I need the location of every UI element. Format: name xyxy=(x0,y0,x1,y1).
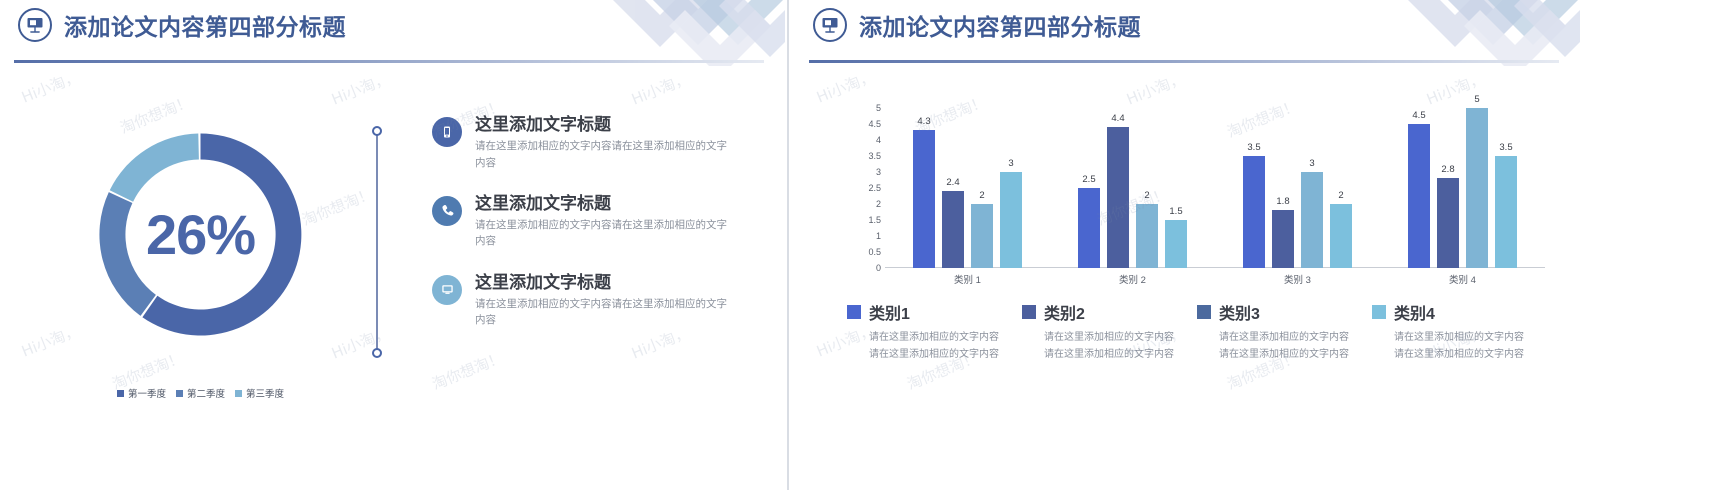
mobile-phone-icon xyxy=(432,117,462,147)
category-legend: 类别1 请在这里添加相应的文字内容请在这里添加相应的文字内容 类别2 请在这里添… xyxy=(847,300,1547,363)
x-axis-labels: 类别 1类别 2类别 3类别 4 xyxy=(885,272,1545,286)
y-axis-tick: 0.5 xyxy=(868,247,881,257)
legend-item[interactable]: 类别2 请在这里添加相应的文字内容请在这里添加相应的文字内容 xyxy=(1022,300,1197,363)
donut-legend-label: 第二季度 xyxy=(187,386,225,400)
bar[interactable]: 4.3 xyxy=(913,130,935,268)
list-item[interactable]: 这里添加文字标题 请在这里添加相应的文字内容请在这里添加相应的文字内容 xyxy=(432,193,732,250)
watermark-text: Hi小淘， xyxy=(628,67,692,109)
bar-group: 4.52.853.5 xyxy=(1380,108,1545,268)
bar[interactable]: 2 xyxy=(1136,204,1158,268)
list-item-desc: 请在这里添加相应的文字内容请在这里添加相应的文字内容 xyxy=(475,138,732,171)
y-axis-tick: 4.5 xyxy=(868,119,881,129)
bullet-list: 这里添加文字标题 请在这里添加相应的文字内容请在这里添加相应的文字内容 这里添加… xyxy=(432,114,732,350)
bar[interactable]: 2 xyxy=(1330,204,1352,268)
bar-value-label: 4.4 xyxy=(1111,113,1124,124)
list-item-body: 这里添加文字标题 请在这里添加相应的文字内容请在这里添加相应的文字内容 xyxy=(475,114,732,171)
y-axis-tick: 2 xyxy=(876,199,881,209)
decorative-chevrons xyxy=(585,0,785,66)
header-rule xyxy=(14,60,764,63)
presentation-board-icon xyxy=(18,8,52,42)
watermark-text: Hi小淘， xyxy=(1123,67,1187,109)
page-title: 添加论文内容第四部分标题 xyxy=(64,8,346,42)
legend-swatch-icon xyxy=(235,390,242,397)
bar[interactable]: 5 xyxy=(1466,108,1488,268)
legend-swatch-icon xyxy=(847,305,861,319)
legend-swatch-icon xyxy=(1197,305,1211,319)
y-axis: 00.511.522.533.544.55 xyxy=(855,108,881,268)
watermark-text: Hi小淘， xyxy=(813,65,877,107)
list-item-body: 这里添加文字标题 请在这里添加相应的文字内容请在这里添加相应的文字内容 xyxy=(475,193,732,250)
bar-value-label: 2.4 xyxy=(946,177,959,188)
bar-value-label: 4.5 xyxy=(1412,110,1425,121)
slide-header-right: 添加论文内容第四部分标题 xyxy=(813,8,1141,42)
bar[interactable]: 4.5 xyxy=(1408,124,1430,268)
bar-group: 2.54.421.5 xyxy=(1050,108,1215,268)
monitor-screen-icon xyxy=(432,275,462,305)
legend-item-desc: 请在这里添加相应的文字内容请在这里添加相应的文字内容 xyxy=(1022,330,1183,363)
slide-left: 添加论文内容第四部分标题 26% 第一季度 xyxy=(0,0,785,490)
bar[interactable]: 4.4 xyxy=(1107,127,1129,268)
list-item-title: 这里添加文字标题 xyxy=(475,193,732,214)
presentation-board-icon xyxy=(813,8,847,42)
panel-divider xyxy=(787,0,789,490)
bar-value-label: 2 xyxy=(1338,190,1343,201)
legend-swatch-icon xyxy=(1372,305,1386,319)
slide-deck-stage: 添加论文内容第四部分标题 26% 第一季度 xyxy=(0,0,1720,490)
bar-value-label: 5 xyxy=(1474,94,1479,105)
y-axis-tick: 3.5 xyxy=(868,151,881,161)
bar-value-label: 1.5 xyxy=(1169,206,1182,217)
watermark-text: Hi小淘， xyxy=(18,319,82,361)
y-axis-tick: 0 xyxy=(876,263,881,273)
donut-legend-item: 第三季度 xyxy=(235,386,284,400)
bar-value-label: 3.5 xyxy=(1499,142,1512,153)
connector-dot-bottom-icon xyxy=(372,348,382,358)
bar-value-label: 2.5 xyxy=(1082,174,1095,185)
bar-value-label: 2 xyxy=(979,190,984,201)
legend-item[interactable]: 类别1 请在这里添加相应的文字内容请在这里添加相应的文字内容 xyxy=(847,300,1022,363)
slide-right: 添加论文内容第四部分标题 00.511.522.533.544.55 4.32.… xyxy=(795,0,1580,490)
donut-legend-label: 第一季度 xyxy=(128,386,166,400)
donut-center-value: 26% xyxy=(78,112,323,357)
legend-swatch-icon xyxy=(1022,305,1036,319)
list-item-desc: 请在这里添加相应的文字内容请在这里添加相应的文字内容 xyxy=(475,217,732,250)
watermark-text: 淘你想淘！ xyxy=(429,347,506,395)
bar-value-label: 3.5 xyxy=(1247,142,1260,153)
donut-chart: 26% xyxy=(78,112,323,357)
y-axis-tick: 2.5 xyxy=(868,183,881,193)
x-axis-label: 类别 1 xyxy=(885,272,1050,286)
legend-item-name: 类别4 xyxy=(1394,300,1435,324)
x-axis-label: 类别 2 xyxy=(1050,272,1215,286)
watermark-text: Hi小淘， xyxy=(328,321,392,363)
donut-legend: 第一季度 第二季度 第三季度 xyxy=(78,386,323,400)
legend-item-head: 类别2 xyxy=(1022,300,1183,324)
bar[interactable]: 2 xyxy=(971,204,993,268)
decorative-chevrons xyxy=(1380,0,1580,66)
bar[interactable]: 1.8 xyxy=(1272,210,1294,268)
legend-item-desc: 请在这里添加相应的文字内容请在这里添加相应的文字内容 xyxy=(1197,330,1358,363)
list-item-title: 这里添加文字标题 xyxy=(475,114,732,135)
bar-group: 3.51.832 xyxy=(1215,108,1380,268)
bar-value-label: 3 xyxy=(1309,158,1314,169)
legend-item[interactable]: 类别4 请在这里添加相应的文字内容请在这里添加相应的文字内容 xyxy=(1372,300,1547,363)
connector-line-group xyxy=(372,126,382,358)
legend-item-desc: 请在这里添加相应的文字内容请在这里添加相应的文字内容 xyxy=(847,330,1008,363)
donut-legend-label: 第三季度 xyxy=(246,386,284,400)
y-axis-tick: 1 xyxy=(876,231,881,241)
bar[interactable]: 1.5 xyxy=(1165,220,1187,268)
legend-item-name: 类别1 xyxy=(869,300,910,324)
legend-item[interactable]: 类别3 请在这里添加相应的文字内容请在这里添加相应的文字内容 xyxy=(1197,300,1372,363)
bar-value-label: 2.8 xyxy=(1441,164,1454,175)
watermark-text: Hi小淘， xyxy=(18,65,82,107)
connector-line xyxy=(376,132,378,352)
y-axis-tick: 5 xyxy=(876,103,881,113)
bar[interactable]: 2.4 xyxy=(942,191,964,268)
x-axis-label: 类别 4 xyxy=(1380,272,1545,286)
list-item-title: 这里添加文字标题 xyxy=(475,272,732,293)
list-item-desc: 请在这里添加相应的文字内容请在这里添加相应的文字内容 xyxy=(475,296,732,329)
bar-value-label: 4.3 xyxy=(917,116,930,127)
legend-item-name: 类别3 xyxy=(1219,300,1260,324)
bar-value-label: 3 xyxy=(1008,158,1013,169)
bar[interactable]: 3 xyxy=(1301,172,1323,268)
legend-item-head: 类别4 xyxy=(1372,300,1533,324)
list-item[interactable]: 这里添加文字标题 请在这里添加相应的文字内容请在这里添加相应的文字内容 xyxy=(432,272,732,329)
bar-group: 4.32.423 xyxy=(885,108,1050,268)
bar-value-label: 1.8 xyxy=(1276,196,1289,207)
plot-area: 4.32.4232.54.421.53.51.8324.52.853.5 xyxy=(885,108,1545,268)
legend-item-head: 类别1 xyxy=(847,300,1008,324)
y-axis-tick: 3 xyxy=(876,167,881,177)
y-axis-tick: 4 xyxy=(876,135,881,145)
legend-item-desc: 请在这里添加相应的文字内容请在这里添加相应的文字内容 xyxy=(1372,330,1533,363)
telephone-handset-icon xyxy=(432,196,462,226)
bar[interactable]: 3.5 xyxy=(1243,156,1265,268)
bar-value-label: 2 xyxy=(1144,190,1149,201)
legend-item-name: 类别2 xyxy=(1044,300,1085,324)
legend-swatch-icon xyxy=(176,390,183,397)
header-rule xyxy=(809,60,1559,63)
legend-swatch-icon xyxy=(117,390,124,397)
bar[interactable]: 2.5 xyxy=(1078,188,1100,268)
y-axis-tick: 1.5 xyxy=(868,215,881,225)
connector-dot-top-icon xyxy=(372,126,382,136)
donut-legend-item: 第一季度 xyxy=(117,386,166,400)
x-axis-label: 类别 3 xyxy=(1215,272,1380,286)
list-item[interactable]: 这里添加文字标题 请在这里添加相应的文字内容请在这里添加相应的文字内容 xyxy=(432,114,732,171)
bar[interactable]: 2.8 xyxy=(1437,178,1459,268)
bar-chart: 00.511.522.533.544.55 4.32.4232.54.421.5… xyxy=(855,108,1545,293)
bar[interactable]: 3 xyxy=(1000,172,1022,268)
bar[interactable]: 3.5 xyxy=(1495,156,1517,268)
legend-item-head: 类别3 xyxy=(1197,300,1358,324)
page-title: 添加论文内容第四部分标题 xyxy=(859,8,1141,42)
slide-header-left: 添加论文内容第四部分标题 xyxy=(18,8,346,42)
donut-legend-item: 第二季度 xyxy=(176,386,225,400)
watermark-text: Hi小淘， xyxy=(328,67,392,109)
list-item-body: 这里添加文字标题 请在这里添加相应的文字内容请在这里添加相应的文字内容 xyxy=(475,272,732,329)
